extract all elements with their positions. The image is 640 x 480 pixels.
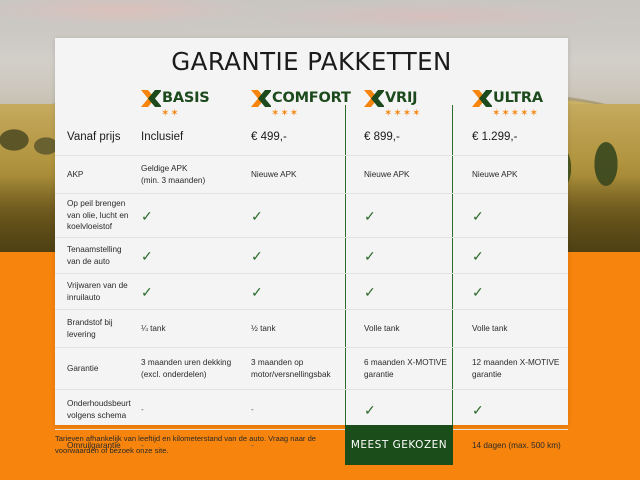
cell-value: € 899,- <box>364 129 400 145</box>
cell-value: ¼ tank <box>141 323 166 335</box>
x-motive-logo-icon <box>141 89 161 108</box>
star-icon: ✶ <box>161 109 169 119</box>
row-label: Garantie <box>67 363 98 375</box>
plan-column-comfort[interactable]: COMFORT ✶✶✶ <box>245 78 355 120</box>
table-row: Vanaf prijs Inclusief € 499,- € 899,- € … <box>55 120 568 156</box>
cell-value: Inclusief <box>141 129 183 145</box>
comparison-grid: BASIS ✶✶ <box>55 78 568 461</box>
check-icon: ✓ <box>364 249 376 263</box>
star-icon: ✶ <box>271 109 279 119</box>
row-label: Tenaamstelling van de auto <box>67 244 129 267</box>
plan-name-label: BASIS <box>162 91 210 106</box>
check-icon: ✓ <box>141 209 153 223</box>
plan-name-label: ULTRA <box>493 91 543 106</box>
plan-name-label: COMFORT <box>272 91 351 106</box>
cell-value: - <box>251 404 254 416</box>
cell-value: Nieuwe APK <box>251 169 297 181</box>
check-icon: ✓ <box>472 285 484 299</box>
star-icon: ✶ <box>280 109 288 119</box>
most-chosen-badge[interactable]: MEEST GEKOZEN <box>345 425 453 465</box>
cell-value: Nieuwe APK <box>472 169 518 181</box>
star-icon: ✶ <box>412 109 420 119</box>
plan-column-vrij[interactable]: VRIJ ✶✶✶✶ <box>355 78 463 120</box>
plan-star-rating: ✶✶✶ <box>271 109 298 119</box>
pricing-card: GARANTIE PAKKETTEN <box>55 38 568 425</box>
check-icon: ✓ <box>251 249 263 263</box>
table-row: Onderhoudsbeurt volgens schema - - ✓ ✓ <box>55 390 568 430</box>
star-icon: ✶ <box>170 109 178 119</box>
x-motive-logo-icon <box>251 89 271 108</box>
row-label: Vrijwaren van de inruilauto <box>67 280 129 303</box>
check-icon: ✓ <box>141 249 153 263</box>
check-icon: ✓ <box>364 209 376 223</box>
star-icon: ✶ <box>511 109 519 119</box>
cell-value: € 499,- <box>251 129 287 145</box>
cell-value: 12 maanden X-MOTIVEgarantie <box>472 357 559 380</box>
row-label: Op peil brengen van olie, lucht en koelv… <box>67 198 129 233</box>
row-label: AKP <box>67 169 83 181</box>
star-icon: ✶ <box>393 109 401 119</box>
cell-value: 14 dagen (max. 500 km) <box>472 440 561 452</box>
plan-star-rating: ✶✶✶✶✶ <box>492 109 538 119</box>
table-row: Tenaamstelling van de auto ✓ ✓ ✓ ✓ <box>55 238 568 274</box>
cell-value: 6 maanden X-MOTIVEgarantie <box>364 357 447 380</box>
page-root: GARANTIE PAKKETTEN <box>0 0 640 480</box>
star-icon: ✶ <box>290 109 298 119</box>
cell-value: Geldige APK(min. 3 maanden) <box>141 163 205 186</box>
cell-value: ½ tank <box>251 323 276 335</box>
star-icon: ✶ <box>530 109 538 119</box>
star-icon: ✶ <box>384 109 392 119</box>
row-label: Onderhoudsbeurt volgens schema <box>67 398 131 421</box>
cell-value: 3 maanden opmotor/versnellingsbak <box>251 357 331 380</box>
check-icon: ✓ <box>472 209 484 223</box>
cell-value: Nieuwe APK <box>364 169 410 181</box>
plan-name-label: VRIJ <box>385 91 417 106</box>
cell-value: - <box>141 404 144 416</box>
most-chosen-badge-label: MEEST GEKOZEN <box>351 439 447 451</box>
check-icon: ✓ <box>364 403 376 417</box>
cell-value: 3 maanden uren dekking(excl. onderdelen) <box>141 357 231 380</box>
footnote-text: Tarieven afhankelijk van leeftijd en kil… <box>55 433 355 457</box>
table-row: Brandstof bij levering ¼ tank ½ tank Vol… <box>55 310 568 348</box>
check-icon: ✓ <box>472 249 484 263</box>
page-title: GARANTIE PAKKETTEN <box>55 38 568 76</box>
star-icon: ✶ <box>403 109 411 119</box>
star-icon: ✶ <box>520 109 528 119</box>
table-row: Vrijwaren van de inruilauto ✓ ✓ ✓ ✓ <box>55 274 568 310</box>
x-motive-logo-icon <box>364 89 384 108</box>
check-icon: ✓ <box>364 285 376 299</box>
row-label: Brandstof bij levering <box>67 317 129 340</box>
check-icon: ✓ <box>141 285 153 299</box>
table-row: Garantie 3 maanden uren dekking(excl. on… <box>55 348 568 390</box>
plan-column-basis[interactable]: BASIS ✶✶ <box>135 78 245 120</box>
cell-value: € 1.299,- <box>472 129 517 145</box>
plan-column-ultra[interactable]: ULTRA ✶✶✶✶✶ <box>463 78 568 120</box>
plan-star-rating: ✶✶ <box>161 109 179 119</box>
check-icon: ✓ <box>472 403 484 417</box>
plan-star-rating: ✶✶✶✶ <box>384 109 421 119</box>
row-label: Vanaf prijs <box>67 129 120 145</box>
header-spacer <box>55 78 135 120</box>
table-row: Op peil brengen van olie, lucht en koelv… <box>55 194 568 238</box>
star-icon: ✶ <box>501 109 509 119</box>
cell-value: Volle tank <box>364 323 400 335</box>
table-row: AKP Geldige APK(min. 3 maanden) Nieuwe A… <box>55 156 568 194</box>
x-motive-logo-icon <box>472 89 492 108</box>
plan-header-row: BASIS ✶✶ <box>55 78 568 120</box>
star-icon: ✶ <box>492 109 500 119</box>
cell-value: Volle tank <box>472 323 508 335</box>
check-icon: ✓ <box>251 285 263 299</box>
check-icon: ✓ <box>251 209 263 223</box>
